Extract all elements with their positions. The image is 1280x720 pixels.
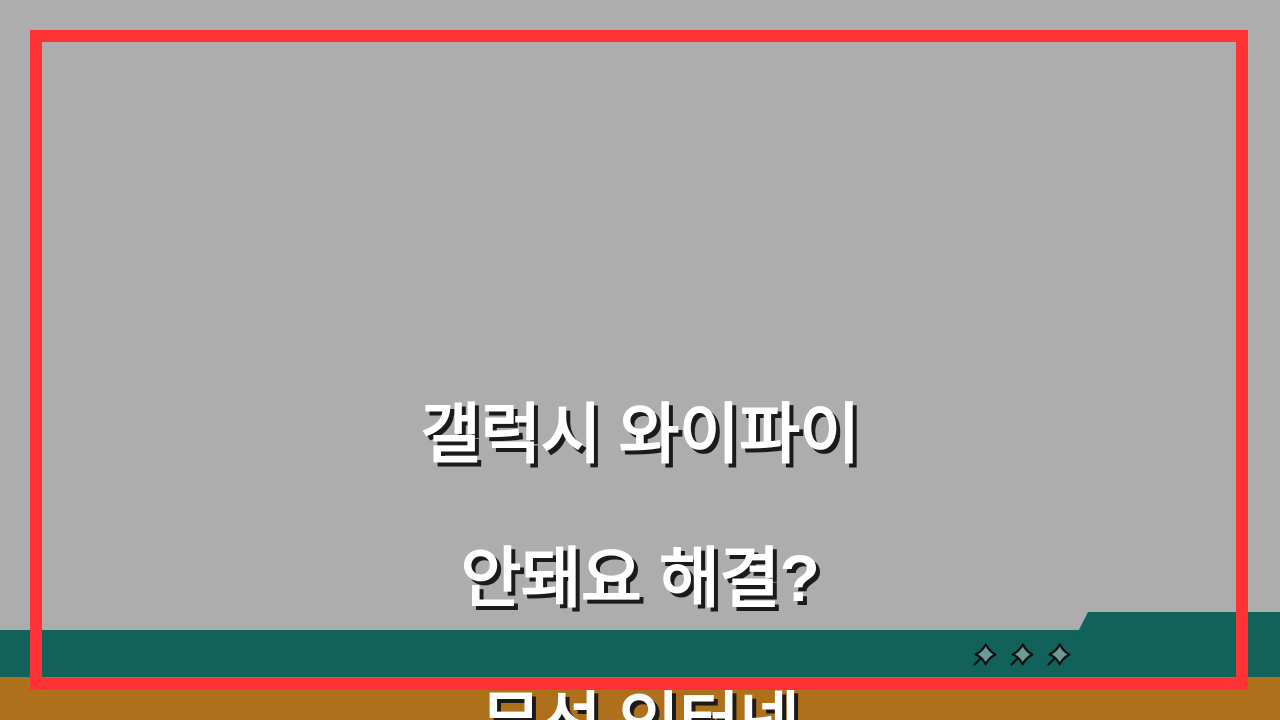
thumbnail-canvas: 갤럭시 와이파이 안돼요 해결? 무선 인터넷 xyxy=(0,0,1280,720)
title-line-3: 무선 인터넷 xyxy=(60,686,1220,720)
title-line-2: 안돼요 해결? xyxy=(60,542,1220,614)
title-line-1: 갤럭시 와이파이 xyxy=(60,398,1220,470)
page-title: 갤럭시 와이파이 안돼요 해결? 무선 인터넷 xyxy=(0,326,1280,720)
